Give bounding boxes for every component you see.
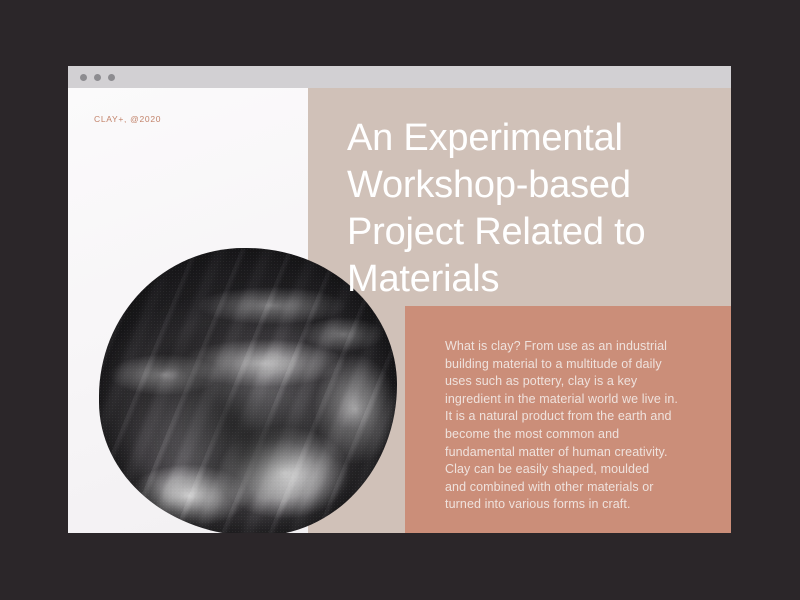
browser-window: CLAY+, @2020 An Experimental Workshop-ba… <box>68 66 731 533</box>
description-line-5: It is a natural product from the earth a… <box>445 408 707 426</box>
headline-line-2: Workshop-based <box>347 162 707 209</box>
window-maximize-dot-icon[interactable] <box>108 74 115 81</box>
description-text: What is clay? From use as an industrial … <box>445 338 707 514</box>
description-line-7: fundamental matter of human creativity. <box>445 444 707 462</box>
description-line-6: become the most common and <box>445 426 707 444</box>
window-close-dot-icon[interactable] <box>80 74 87 81</box>
headline-line-3: Project Related to <box>347 209 707 256</box>
description-line-4: ingredient in the material world we live… <box>445 391 707 409</box>
description-line-10: turned into various forms in craft. <box>445 496 707 514</box>
browser-titlebar[interactable] <box>68 66 731 88</box>
description-line-9: and combined with other materials or <box>445 479 707 497</box>
description-line-8: Clay can be easily shaped, moulded <box>445 461 707 479</box>
page-title: An Experimental Workshop-based Project R… <box>347 115 707 303</box>
description-line-2: building material to a multitude of dail… <box>445 356 707 374</box>
description-line-3: uses such as pottery, clay is a key <box>445 373 707 391</box>
brand-logo[interactable]: CLAY+, @2020 <box>94 114 161 124</box>
slide-viewport: CLAY+, @2020 An Experimental Workshop-ba… <box>68 88 731 533</box>
slide-stage: CLAY+, @2020 An Experimental Workshop-ba… <box>0 0 800 600</box>
headline-line-1: An Experimental <box>347 115 707 162</box>
headline-line-4: Materials <box>347 256 707 303</box>
description-block: What is clay? From use as an industrial … <box>405 306 731 533</box>
window-minimize-dot-icon[interactable] <box>94 74 101 81</box>
description-line-1: What is clay? From use as an industrial <box>445 338 707 356</box>
